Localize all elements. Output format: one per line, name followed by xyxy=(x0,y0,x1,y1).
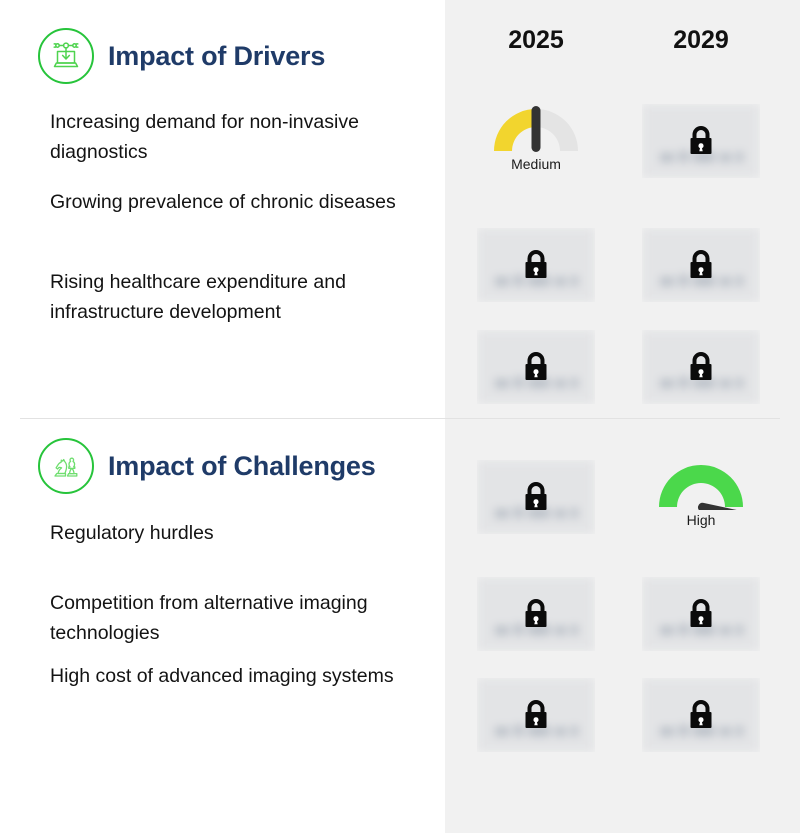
lock-icon xyxy=(521,480,551,514)
gauge-value-label-medium: Medium xyxy=(511,156,561,172)
cell-drivers-r2-2029[interactable] xyxy=(642,228,760,302)
cell-challenges-r3-2025[interactable] xyxy=(477,678,595,752)
challenge-item-2: Competition from alternative imaging tec… xyxy=(50,588,435,648)
section-title-challenges: Impact of Challenges xyxy=(108,451,376,482)
gauge-dial-icon xyxy=(655,460,747,510)
locked-cell[interactable] xyxy=(642,678,760,752)
cell-drivers-r1-2025: Medium xyxy=(477,104,595,178)
lock-icon xyxy=(686,698,716,732)
section-divider xyxy=(20,418,780,419)
locked-cell[interactable] xyxy=(477,228,595,302)
lock-icon xyxy=(521,350,551,384)
cell-challenges-r1-2025[interactable] xyxy=(477,460,595,534)
gauge-medium: Medium xyxy=(477,104,595,178)
locked-cell[interactable] xyxy=(477,577,595,651)
lock-icon xyxy=(686,350,716,384)
lock-icon xyxy=(521,248,551,282)
cell-challenges-r2-2029[interactable] xyxy=(642,577,760,651)
section-header-drivers: Impact of Drivers xyxy=(38,28,325,84)
cell-challenges-r3-2029[interactable] xyxy=(642,678,760,752)
locked-cell[interactable] xyxy=(477,330,595,404)
cell-challenges-r2-2025[interactable] xyxy=(477,577,595,651)
cell-drivers-r3-2025[interactable] xyxy=(477,330,595,404)
cell-drivers-r2-2025[interactable] xyxy=(477,228,595,302)
column-header-2029: 2029 xyxy=(641,26,761,55)
section-title-drivers: Impact of Drivers xyxy=(108,41,325,72)
driver-item-2: Growing prevalence of chronic diseases xyxy=(50,187,435,217)
lock-icon xyxy=(521,597,551,631)
cell-challenges-r1-2029: High xyxy=(642,460,760,534)
gauge-value-label-high: High xyxy=(687,512,716,528)
locked-cell[interactable] xyxy=(477,678,595,752)
lock-icon xyxy=(686,124,716,158)
column-header-2025: 2025 xyxy=(476,26,596,55)
challenge-item-1: Regulatory hurdles xyxy=(50,518,435,548)
lock-icon xyxy=(686,248,716,282)
gauge-high: High xyxy=(642,460,760,534)
driver-item-1: Increasing demand for non-invasive diagn… xyxy=(50,107,435,167)
locked-cell[interactable] xyxy=(642,330,760,404)
lock-icon xyxy=(686,597,716,631)
laptop-network-download-icon xyxy=(38,28,94,84)
section-header-challenges: Impact of Challenges xyxy=(38,438,376,494)
locked-cell[interactable] xyxy=(642,577,760,651)
locked-cell[interactable] xyxy=(642,228,760,302)
gauge-dial-icon xyxy=(490,104,582,154)
challenge-item-3: High cost of advanced imaging systems xyxy=(50,661,435,691)
chess-pieces-icon xyxy=(38,438,94,494)
lock-icon xyxy=(521,698,551,732)
driver-item-3: Rising healthcare expenditure and infras… xyxy=(50,267,435,327)
cell-drivers-r3-2029[interactable] xyxy=(642,330,760,404)
impact-matrix-page: 2025 2029 Impact of Drivers Increasing d… xyxy=(0,0,800,833)
cell-drivers-r1-2029[interactable] xyxy=(642,104,760,178)
locked-cell[interactable] xyxy=(477,460,595,534)
locked-cell[interactable] xyxy=(642,104,760,178)
